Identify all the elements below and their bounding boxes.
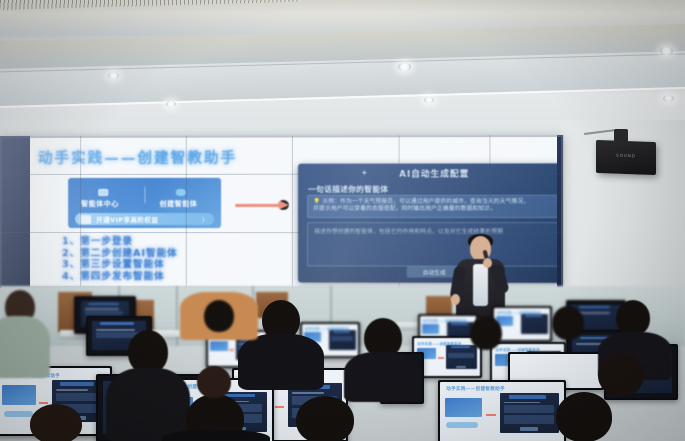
- presenter-shirt: [473, 264, 488, 306]
- agent-center-icon: [98, 189, 108, 196]
- student-body: [238, 334, 324, 390]
- hvac-grille: [0, 0, 300, 10]
- student-head: [598, 352, 644, 396]
- mini-dialog-titlebar: [451, 346, 471, 348]
- create-agent-label: 创建智能体: [160, 199, 198, 209]
- student-body: [0, 316, 50, 378]
- mini-vip-banner[interactable]: [4, 411, 33, 417]
- vip-crown-icon: [80, 215, 91, 224]
- mini-dialog: [521, 314, 548, 334]
- student-head: [204, 300, 234, 332]
- description-input[interactable]: 描述你想创建的智能体，包括它的作用和特点，以及对它生成结果的预期: [307, 222, 563, 267]
- presenter-right-hand: [483, 258, 492, 268]
- mini-arrow-icon: [486, 414, 496, 416]
- monitor-screen: 动手实践——创建智教助手: [494, 308, 550, 340]
- student-body: [106, 368, 190, 441]
- video-wall-seam: [399, 135, 400, 288]
- mini-dialog-titlebar: [525, 315, 542, 317]
- mini-arrow-icon: [438, 357, 444, 359]
- mini-agent-card: [2, 385, 36, 405]
- mini-agent-card: [210, 341, 227, 351]
- student-head: [296, 396, 354, 441]
- mini-dialog-titlebar: [100, 322, 134, 325]
- downlight: [398, 63, 411, 71]
- example-hint: 💡 示例：作为一个天气预报员，可以通过用户提供的城市，查询当天的天气情况， 并提…: [307, 195, 563, 218]
- student-body: [344, 352, 420, 402]
- mini-slide-title: 动手实践——创建智教助手: [446, 386, 505, 392]
- wall-speaker: SOUND: [596, 140, 656, 175]
- card-divider: [144, 187, 145, 203]
- agent-card: 智能体中心 创建智能体 开通VIP享高阶权益 〉: [68, 178, 221, 228]
- monitor-screen: 动手实践——创建智教助手: [440, 382, 564, 441]
- downlight: [424, 97, 434, 103]
- downlight: [660, 47, 673, 55]
- mini-dialog: [500, 393, 560, 433]
- vip-chevron-icon: 〉: [202, 215, 208, 224]
- presenter-left-hand: [451, 294, 460, 305]
- auto-generate-label: 自动生成: [423, 268, 446, 276]
- vip-banner-label: 开通VIP享高阶权益: [96, 214, 158, 224]
- cabinet-seam: [176, 286, 178, 346]
- mini-generate-button[interactable]: [520, 427, 538, 431]
- video-wall-dark-panel-left: [0, 136, 30, 288]
- mini-arrow-icon: [229, 349, 234, 351]
- mini-dialog: [329, 330, 356, 350]
- example-line-2: 并提示用户可以穿着的衣服搭配，同时输出用户正确量的数据和知识。: [313, 206, 563, 214]
- ai-generate-dialog[interactable]: ✦ AI自动生成配置 ✕ 一句话描述你的智能体 💡 示例：作为一个天气预报员，可…: [298, 163, 563, 283]
- classroom-scene: 动手实践——创建智教助手 智能体中心 创建智能体 开通VIP享高阶权益 〉 1、…: [0, 0, 685, 441]
- student-body: [162, 430, 270, 441]
- mini-dialog-titlebar: [88, 303, 118, 305]
- mini-agent-card: [445, 398, 482, 417]
- monitor[interactable]: 动手实践——创建智教助手: [438, 380, 566, 441]
- mini-dialog-titlebar: [509, 395, 546, 399]
- agent-center-label: 智能体中心: [81, 199, 119, 209]
- downlight: [166, 101, 176, 107]
- video-wall-seam: [292, 135, 293, 288]
- student-head: [552, 306, 584, 340]
- mini-dialog-titlebar: [451, 323, 468, 325]
- mini-dialog: [446, 345, 478, 369]
- mini-arrow-icon: [275, 406, 284, 408]
- mini-vip-banner[interactable]: [446, 422, 478, 428]
- student-head: [470, 316, 502, 350]
- mini-agent-card: [422, 324, 439, 334]
- student-head: [556, 392, 612, 441]
- video-wall-seam: [80, 136, 81, 288]
- create-agent-icon: [176, 189, 186, 196]
- student-head: [197, 366, 231, 398]
- mini-dialog-titlebar: [333, 331, 350, 333]
- right-arrow-icon: [235, 200, 292, 210]
- downlight: [663, 95, 674, 102]
- ceiling: [0, 0, 685, 132]
- speaker-brand-label: SOUND: [616, 153, 636, 159]
- field-label: 一句话描述你的智能体: [308, 184, 388, 195]
- mini-generate-button[interactable]: [456, 366, 466, 368]
- slide-title: 动手实践——创建智教助手: [38, 147, 237, 168]
- mini-dialog-titlebar: [579, 306, 610, 308]
- downlight: [108, 72, 119, 79]
- video-wall-dark-panel-right: [557, 135, 563, 289]
- student-head: [30, 404, 82, 441]
- student-head: [616, 300, 650, 336]
- vip-banner[interactable]: 开通VIP享高阶权益 〉: [75, 213, 214, 225]
- video-wall-seam: [186, 136, 187, 289]
- mini-dialog-titlebar: [60, 382, 93, 386]
